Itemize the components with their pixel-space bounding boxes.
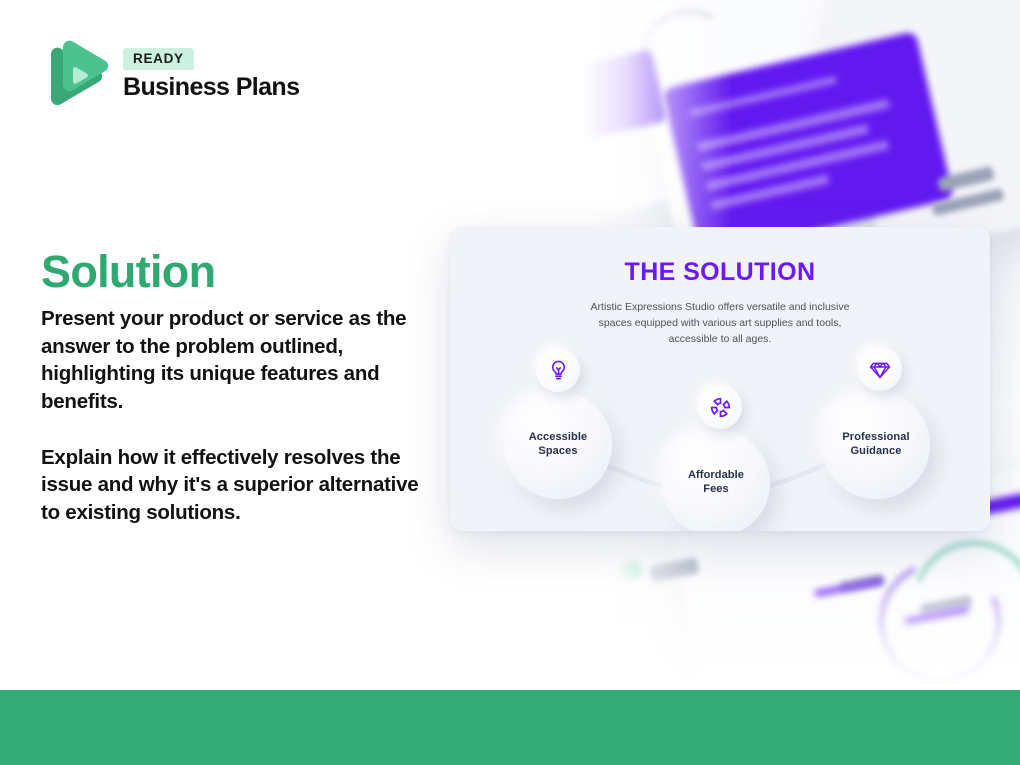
body-paragraph-1: Present your product or service as the a… [41, 305, 436, 416]
lightbulb-icon [536, 348, 580, 392]
decorative-dot [622, 560, 642, 580]
solution-preview-card: THE SOLUTION Artistic Expressions Studio… [450, 227, 990, 531]
ready-badge: READY [123, 48, 194, 70]
node-accessible-spaces[interactable]: Accessible Spaces [504, 391, 612, 499]
node-label-line2: Spaces [529, 445, 587, 459]
node-affordable-fees[interactable]: Affordable Fees [662, 429, 770, 531]
diamond-gem-icon [858, 347, 902, 391]
node-label-line1: Accessible [529, 431, 587, 445]
brand-name: Business Plans [123, 73, 299, 102]
brand-logo-row: READY Business Plans [41, 38, 299, 112]
node-label: Accessible Spaces [529, 431, 587, 459]
node-professional-guidance[interactable]: Professional Guidance [822, 391, 930, 499]
body-paragraph-2: Explain how it effectively resolves the … [41, 444, 436, 527]
slide-canvas: THE SOLUTION Artistic Expressions Studio… [0, 0, 1020, 765]
footer-bar [0, 690, 1020, 765]
node-label-line2: Fees [688, 483, 744, 497]
body-copy: Present your product or service as the a… [41, 305, 436, 527]
play-triangle-logo [41, 38, 109, 112]
node-label-line2: Guidance [842, 445, 909, 459]
node-label: Affordable Fees [688, 469, 744, 497]
brand-text-block: READY Business Plans [123, 48, 299, 102]
lifebuoy-target-icon [698, 385, 742, 429]
page-title: Solution [41, 246, 215, 298]
node-label-line1: Professional [842, 431, 909, 445]
node-label: Professional Guidance [842, 431, 909, 459]
node-label-line1: Affordable [688, 469, 744, 483]
